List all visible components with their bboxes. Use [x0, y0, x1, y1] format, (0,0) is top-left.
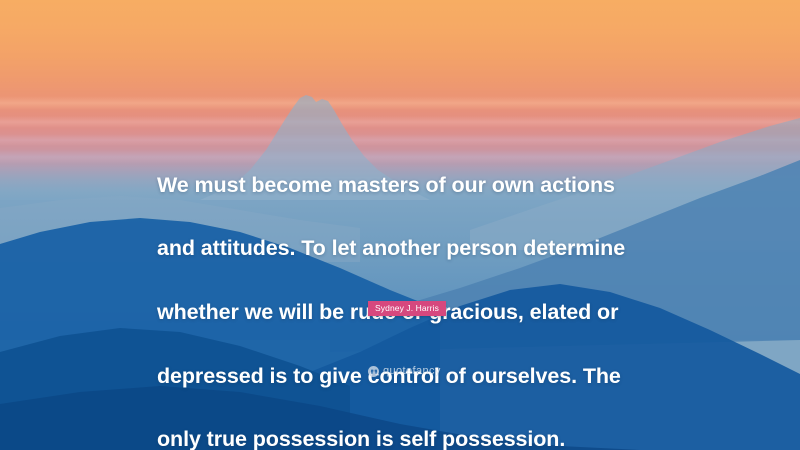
- quote-mark-icon: [368, 366, 379, 377]
- quote-text: We must become masters of our own action…: [157, 138, 657, 450]
- quote-line: and attitudes. To let another person det…: [157, 233, 657, 265]
- quotefancy-watermark[interactable]: quotefancy: [368, 366, 441, 377]
- quote-line: only true possession is self possession.: [157, 424, 657, 450]
- quote-wallpaper-canvas: We must become masters of our own action…: [0, 0, 800, 450]
- author-badge[interactable]: Sydney J. Harris: [368, 301, 446, 316]
- author-name: Sydney J. Harris: [375, 304, 439, 313]
- brand-name: quotefancy: [383, 366, 441, 377]
- quote-line: We must become masters of our own action…: [157, 170, 657, 202]
